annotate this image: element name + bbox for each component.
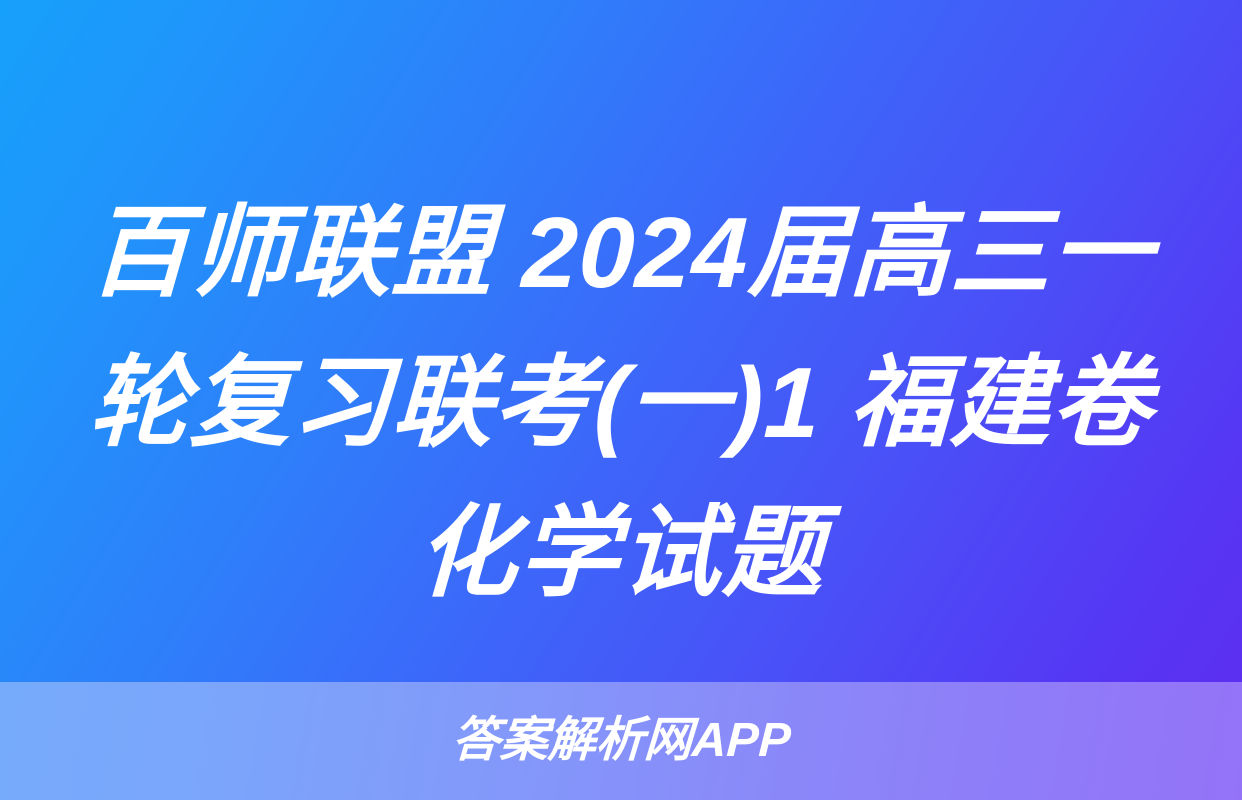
exam-cover-card: 百师联盟 2024届高三一 轮复习联考(一)1 福建卷 化学试题 答案解析网AP…: [0, 0, 1242, 800]
page-title: 百师联盟 2024届高三一 轮复习联考(一)1 福建卷 化学试题: [0, 178, 1242, 628]
watermark-band: 答案解析网APP: [0, 682, 1242, 800]
title-line-3: 化学试题: [43, 478, 1198, 628]
watermark-label: 答案解析网APP: [450, 717, 791, 765]
title-line-1: 百师联盟 2024届高三一: [43, 178, 1198, 328]
title-line-2: 轮复习联考(一)1 福建卷: [43, 328, 1198, 478]
